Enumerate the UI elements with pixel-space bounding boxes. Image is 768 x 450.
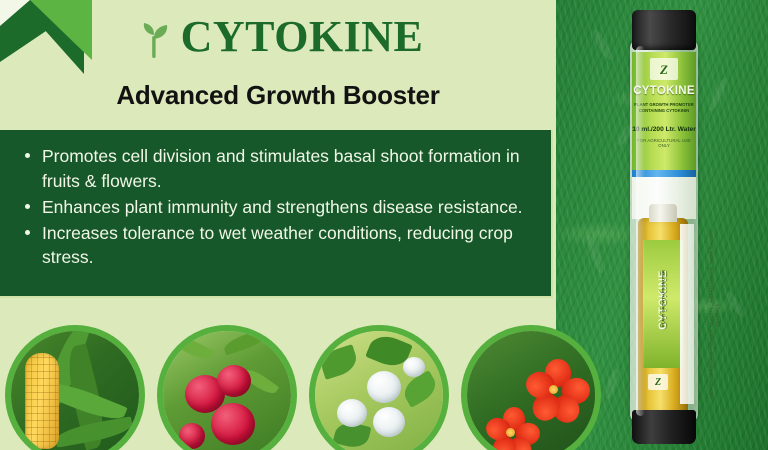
grass-blade xyxy=(707,76,730,113)
company-logo-mark: Z xyxy=(650,58,678,80)
flower-center xyxy=(506,428,515,437)
fruit xyxy=(179,423,205,449)
pomegranate-illustration xyxy=(163,331,291,450)
grass-blade xyxy=(590,27,614,61)
logo-letter: Z xyxy=(660,63,668,76)
inner-bottle-neck xyxy=(649,204,677,222)
cotton-boll xyxy=(337,399,367,427)
grass-blade xyxy=(603,368,620,401)
brand-title: CYTOKINE xyxy=(181,15,424,59)
fruit xyxy=(217,365,251,397)
inner-brand-sub: PLANT GROWTH PROMOTER xyxy=(661,240,666,359)
crop-photo-pomegranate xyxy=(157,325,297,450)
leaf xyxy=(399,370,440,408)
hibiscus-illustration xyxy=(467,331,595,450)
list-item: Enhances plant immunity and strengthens … xyxy=(40,195,533,220)
tube-highlight xyxy=(636,46,645,416)
grass-blade xyxy=(724,289,747,319)
inner-bottle-label: CYTOKINE PLANT GROWTH PROMOTER xyxy=(643,240,683,368)
list-item: Promotes cell division and stimulates ba… xyxy=(40,144,533,194)
grass-blade xyxy=(584,234,606,275)
cotton-boll xyxy=(367,371,401,403)
leaf xyxy=(172,332,214,363)
maize-illustration xyxy=(11,331,139,450)
leaf xyxy=(222,329,268,356)
bottle-side-strip: KEEP OUT OF REACH OF CHILDREN. READ THE … xyxy=(680,224,694,404)
flower-center xyxy=(549,385,558,394)
crop-photo-hibiscus xyxy=(461,325,601,450)
flower xyxy=(485,407,537,450)
fruit xyxy=(211,403,255,445)
list-item: Increases tolerance to wet weather condi… xyxy=(40,221,533,271)
crop-photo-maize xyxy=(5,325,145,450)
bottle-cap xyxy=(632,10,696,50)
bottle-side-text: KEEP OUT OF REACH OF CHILDREN. READ THE … xyxy=(709,226,722,402)
crop-photo-cotton xyxy=(309,325,449,450)
brand-row: CYTOKINE xyxy=(0,14,556,60)
product-bottle: Z CYTOKINE PLANT GROWTH PROMOTER CONTAIN… xyxy=(628,6,700,444)
cotton-boll xyxy=(373,407,405,437)
inner-logo-mark: Z xyxy=(648,374,668,390)
page-title: Advanced Growth Booster xyxy=(0,80,556,111)
advertisement-canvas: CYTOKINE Advanced Growth Booster Promote… xyxy=(0,0,768,450)
leaf xyxy=(318,344,360,380)
cotton-boll xyxy=(403,357,425,377)
cotton-illustration xyxy=(315,331,443,450)
corn-cob xyxy=(25,353,59,449)
sprout-icon xyxy=(133,14,177,60)
benefits-box: Promotes cell division and stimulates ba… xyxy=(0,130,553,298)
benefits-list: Promotes cell division and stimulates ba… xyxy=(18,144,533,270)
